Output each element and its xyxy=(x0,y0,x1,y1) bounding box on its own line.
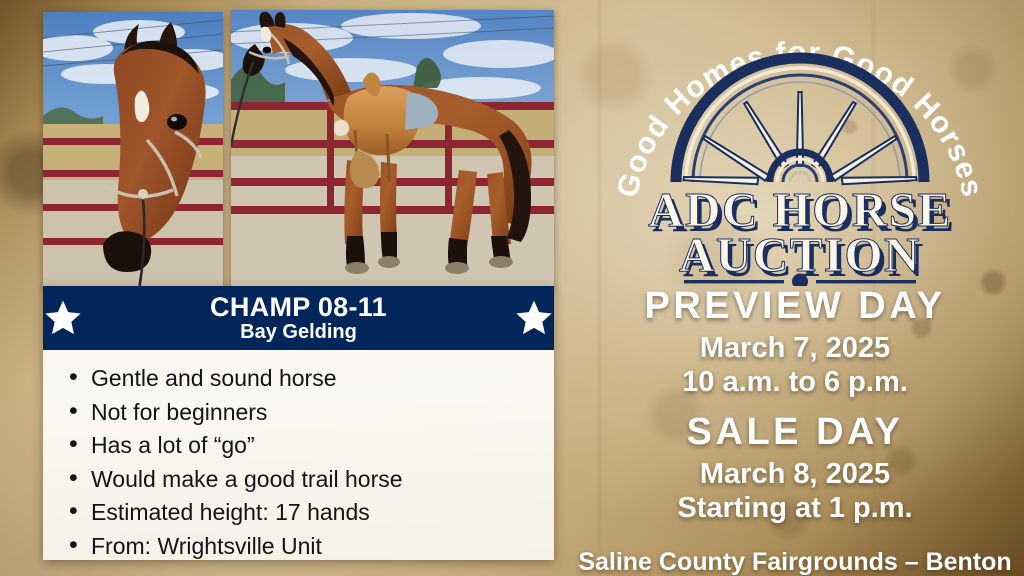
horse-name: CHAMP 08-11 xyxy=(87,294,510,322)
sale-day-date: March 8, 2025 xyxy=(566,458,1024,492)
list-item: Would make a good trail horse xyxy=(65,463,538,497)
star-icon xyxy=(43,298,83,338)
list-item: From: Wrightsville Unit xyxy=(65,530,538,564)
horse-description: Bay Gelding xyxy=(87,322,510,342)
preview-day-date: March 7, 2025 xyxy=(566,332,1024,366)
venue-location: Saline County Fairgrounds – Benton xyxy=(566,548,1024,576)
preview-day-time: 10 a.m. to 6 p.m. xyxy=(566,366,1024,400)
sale-day-time: Starting at 1 p.m. xyxy=(566,492,1024,526)
list-item: Has a lot of “go” xyxy=(65,429,538,463)
event-details: PREVIEW DAY March 7, 2025 10 a.m. to 6 p… xyxy=(566,286,1024,576)
horse-headshot-photo xyxy=(43,12,223,290)
list-item: Estimated height: 17 hands xyxy=(65,496,538,530)
preview-day-heading: PREVIEW DAY xyxy=(566,286,1024,327)
horse-profile-photo xyxy=(231,10,554,291)
sale-day-heading: SALE DAY xyxy=(566,412,1024,453)
adc-horse-auction-logo: Good Homes for Good Horses xyxy=(600,14,1000,286)
star-icon xyxy=(514,298,554,338)
list-item: Not for beginners xyxy=(65,396,538,430)
horse-name-banner: CHAMP 08-11 Bay Gelding xyxy=(43,286,554,350)
flyer-canvas: CHAMP 08-11 Bay Gelding Gentle and sound… xyxy=(0,0,1024,576)
horse-attribute-list: Gentle and sound horse Not for beginners… xyxy=(43,352,554,560)
list-item: Gentle and sound horse xyxy=(65,362,538,396)
